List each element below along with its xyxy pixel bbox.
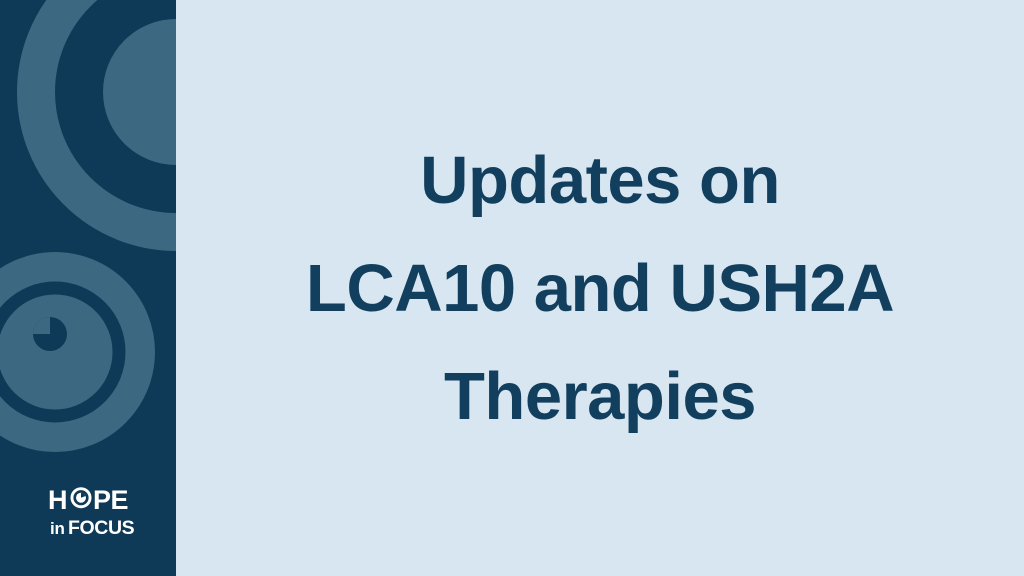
logo-focus-word: FOCUS <box>68 517 135 539</box>
logo-aperture-icon <box>71 487 92 508</box>
title-line-2: LCA10 and USH2A <box>306 255 894 322</box>
logo-hope-h: H <box>48 485 67 515</box>
title-line-1: Updates on <box>420 147 780 214</box>
title-line-3: Therapies <box>444 363 756 430</box>
decorative-sidebar: H PE in FOCUS <box>0 0 176 576</box>
logo-in-word: in <box>50 519 65 538</box>
title-slide: H PE in FOCUS <box>0 0 1024 576</box>
eye-iris-icon <box>0 270 137 434</box>
hope-in-focus-logo: H PE in FOCUS <box>48 484 152 540</box>
logo-artwork: H PE in FOCUS <box>48 484 152 540</box>
title-block: Updates on LCA10 and USH2A Therapies <box>176 0 1024 576</box>
concentric-rings-icon <box>36 0 176 232</box>
logo-hope-pe: PE <box>93 485 128 515</box>
